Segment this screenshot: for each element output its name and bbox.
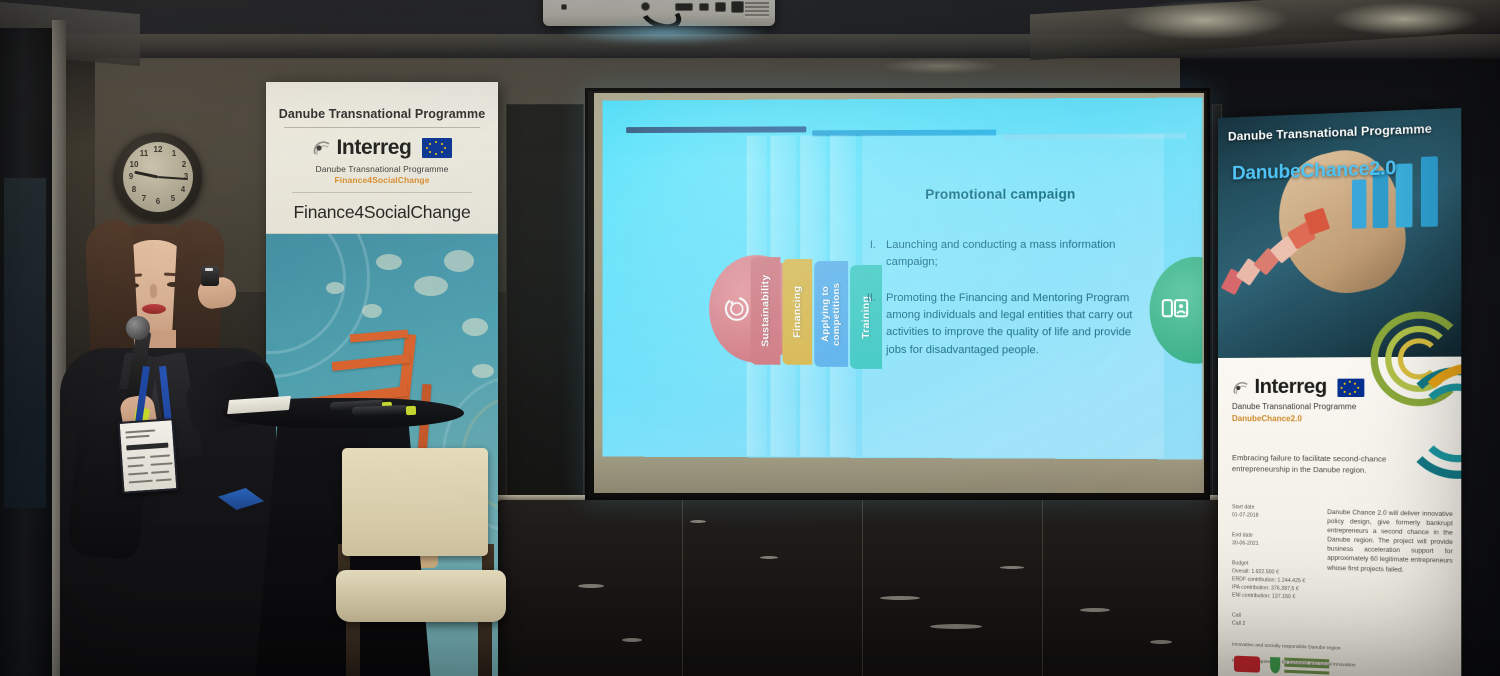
- banner-left-logo-sub1: Danube Transnational Programme: [266, 164, 498, 174]
- wall-speckle: [1150, 640, 1172, 644]
- banner-left-logo-sub2: Finance4SocialChange: [266, 175, 498, 185]
- banner-right-logo-sub2: DanubeChance2.0: [1232, 414, 1302, 423]
- chair-seat: [336, 570, 506, 622]
- banner-right-header: Danube Transnational Programme: [1228, 121, 1450, 144]
- wall-speckle: [690, 520, 706, 523]
- interreg-wordmark: Interreg: [337, 136, 412, 160]
- slide-bullet-2: II. Promoting the Financing and Mentorin…: [862, 290, 1154, 360]
- slide-title: Promotional campaign: [855, 186, 1146, 202]
- badge-text-line: [125, 429, 155, 433]
- projector-light-glow: [560, 22, 770, 44]
- clock-numeral: 10: [128, 159, 140, 171]
- slide-bullet-number: I.: [862, 237, 876, 272]
- presentation-board-icon: [1162, 297, 1188, 319]
- badge-text-line: [150, 454, 170, 457]
- clock-numeral: 5: [167, 193, 179, 205]
- speaker-nose: [150, 284, 157, 298]
- wall-speckle: [578, 584, 604, 588]
- wainscot-seam-1: [682, 500, 683, 676]
- banner-left-rule: [284, 127, 480, 128]
- clock-numeral: 8: [128, 184, 140, 196]
- wall-panel-1: [506, 104, 584, 496]
- projector-port-power: [561, 4, 567, 10]
- wall-speckle: [930, 624, 982, 629]
- badge-bar-graphic: [126, 443, 168, 451]
- clock-numeral: 12: [152, 144, 164, 156]
- ceiling-light-3: [880, 58, 1000, 74]
- domino-blue: [1352, 179, 1367, 228]
- slide-bullet-1: I. Launching and conducting a mass infor…: [862, 237, 1154, 272]
- interreg-wordmark: Interreg: [1254, 376, 1326, 399]
- ceiling-light-2: [1330, 2, 1480, 36]
- clock-numeral: 6: [152, 196, 164, 208]
- interreg-arc-icon: [312, 139, 332, 157]
- projector-port-hdmi: [699, 3, 709, 11]
- badge-text-line: [128, 472, 148, 475]
- banner-left-divider: [292, 192, 472, 193]
- wainscot: [500, 500, 1220, 676]
- bridge-rung: [350, 329, 408, 342]
- projector-vent-icon: [745, 2, 769, 18]
- banner-left-header-panel: Danube Transnational Programme Interreg: [266, 82, 498, 234]
- speaker-lips: [142, 304, 166, 314]
- table-microphone-2-cap: [406, 406, 416, 415]
- slide-progress-bar-1: [626, 126, 806, 133]
- slide-body: I. Launching and conducting a mass infor…: [862, 237, 1154, 378]
- slide-bullet-text: Launching and conducting a mass informat…: [886, 237, 1154, 272]
- eu-flag-icon: [422, 138, 452, 158]
- banner-right: Danube Transnational Programme DanubeCha…: [1218, 108, 1461, 676]
- badge-text-line: [156, 478, 172, 481]
- microphone-head-icon: [126, 316, 150, 340]
- badge-text-line: [126, 435, 150, 439]
- clock-face: 12 1 2 3 4 5 6 7 8 9 10 11: [123, 142, 193, 212]
- water-foam: [472, 364, 494, 378]
- bar-chair: [336, 448, 524, 676]
- badge-text-line: [129, 480, 153, 484]
- water-foam: [326, 282, 344, 294]
- slide-bullet-text: Promoting the Financing and Mentoring Pr…: [886, 290, 1154, 360]
- wall-clock: 12 1 2 3 4 5 6 7 8 9 10 11: [114, 133, 202, 221]
- projection-screen-surface: Sustainability Financing Applying to com…: [603, 98, 1203, 460]
- interreg-arc-icon: [1232, 379, 1250, 395]
- water-foam: [376, 254, 402, 270]
- projector-port-lan: [731, 1, 744, 13]
- badge-text-line: [127, 456, 145, 459]
- partner-logo-text: [1284, 658, 1329, 676]
- conference-room-scene: 12 1 2 3 4 5 6 7 8 9 10 11: [0, 0, 1500, 676]
- badge-text-line: [128, 464, 144, 467]
- wall-speckle: [880, 596, 920, 600]
- badge-text-line: [151, 471, 169, 474]
- slide-tab-sustainability: Sustainability: [751, 257, 781, 365]
- recycle-ring-icon: [723, 295, 751, 323]
- conference-badge: [118, 418, 179, 494]
- partner-logo-green: [1270, 657, 1280, 674]
- wainscot-seam-2: [862, 500, 863, 676]
- badge-text-line: [151, 462, 173, 466]
- wall-speckle: [760, 556, 778, 559]
- banner-right-logo: Interreg: [1232, 376, 1365, 400]
- chair-backrest: [342, 448, 488, 556]
- clock-hour-hand: [134, 171, 158, 179]
- ceiling-light-1: [1120, 0, 1290, 40]
- water-foam: [444, 250, 474, 272]
- banner-right-tagline: Embracing failure to facilitate second-c…: [1232, 452, 1413, 476]
- wall-speckle: [622, 638, 642, 642]
- banner-right-description: Danube Chance 2.0 will deliver innovativ…: [1327, 508, 1453, 576]
- projector-port-usb: [715, 2, 726, 12]
- banner-right-logo-sub1: Danube Transnational Programme: [1232, 402, 1356, 411]
- water-foam: [462, 318, 488, 336]
- water-foam: [414, 276, 448, 296]
- partner-logo-fdi: [1234, 656, 1260, 673]
- wall-speckle: [1080, 608, 1110, 612]
- wainscot-seam-3: [1042, 500, 1043, 676]
- slide-bullet-number: II.: [862, 290, 876, 359]
- banner-left-header: Danube Transnational Programme: [266, 107, 498, 121]
- slide: Sustainability Financing Applying to com…: [603, 98, 1203, 460]
- clicker-button-icon: [205, 268, 213, 271]
- eu-flag-icon: [1338, 378, 1365, 396]
- bridge-rung: [332, 354, 411, 371]
- clock-numeral: 11: [138, 148, 150, 160]
- wall-speckle: [1000, 566, 1024, 569]
- clock-numeral: 2: [178, 159, 190, 171]
- slide-tab-financing: Financing: [782, 259, 812, 365]
- banner-right-meta-start-date: 01-07-2018: [1232, 512, 1317, 521]
- water-foam: [362, 304, 382, 318]
- slide-tab-applying-to-competitions: Applying to competitions: [814, 261, 848, 367]
- banner-left-logo: Interreg: [266, 136, 498, 160]
